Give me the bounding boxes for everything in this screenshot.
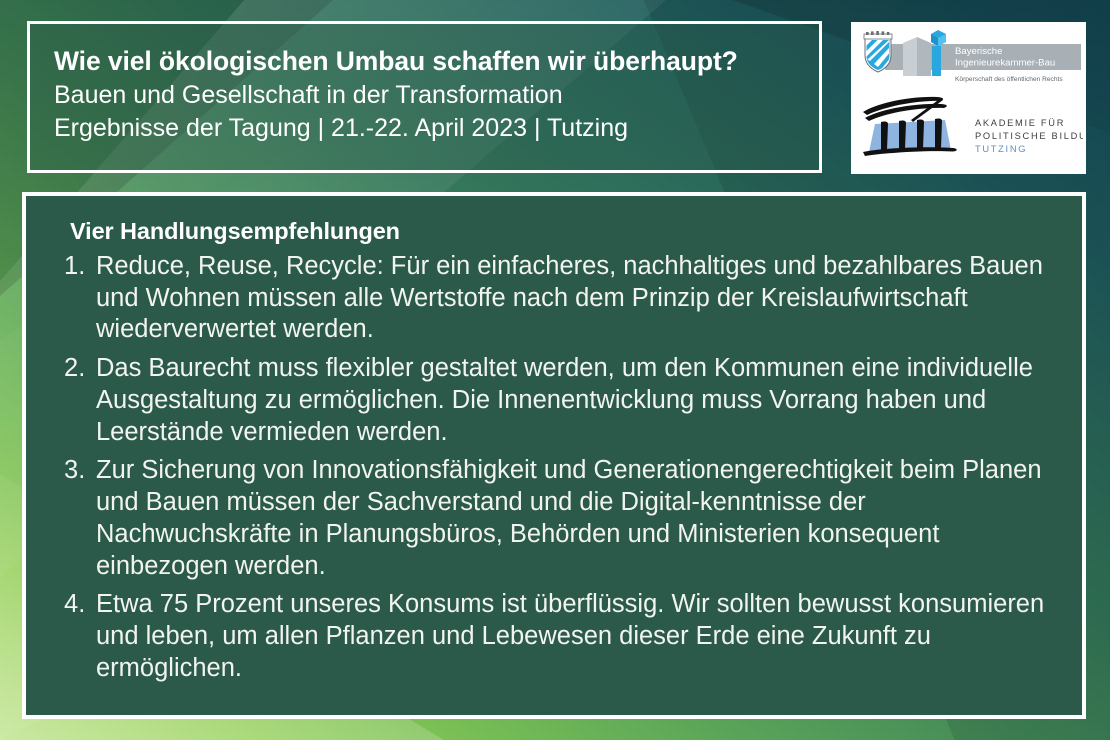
page-title: Wie viel ökologischen Umbau schaffen wir… [54,44,819,79]
svg-text:AKADEMIE FÜR: AKADEMIE FÜR [975,118,1065,128]
list-item: Reduce, Reuse, Recycle: Für ein einfache… [48,251,1062,346]
page-subtitle: Bauen und Gesellschaft in der Transforma… [54,79,819,112]
svg-text:TUTZING: TUTZING [975,144,1027,154]
recommendations-box: Vier Handlungsempfehlungen Reduce, Reuse… [22,192,1086,719]
page-event-line: Ergebnisse der Tagung | 21.-22. April 20… [54,112,819,145]
list-item: Zur Sicherung von Innovationsfähigkeit u… [48,455,1062,582]
recommendations-heading: Vier Handlungsempfehlungen [70,218,1062,245]
list-item: Das Baurecht muss flexibler gestaltet we… [48,353,1062,448]
svg-text:POLITISCHE BILDUNG: POLITISCHE BILDUNG [975,131,1083,141]
recommendations-list: Reduce, Reuse, Recycle: Für ein einfache… [48,251,1062,685]
bayerische-ingenieurekammer-bau-logo: Bayerische Ingenieurekammer-Bau Körpersc… [859,29,1081,91]
akademie-tutzing-logo: AKADEMIE FÜR POLITISCHE BILDUNG TUTZING [857,94,1083,168]
slide-canvas: Wie viel ökologischen Umbau schaffen wir… [0,0,1110,740]
logo-panel: Bayerische Ingenieurekammer-Bau Körpersc… [851,22,1086,174]
svg-text:Ingenieurekammer-Bau: Ingenieurekammer-Bau [955,58,1055,69]
svg-text:Körperschaft des öffentlichen: Körperschaft des öffentlichen Rechts [955,76,1063,83]
svg-text:Bayerische: Bayerische [955,46,1002,57]
list-item: Etwa 75 Prozent unseres Konsums ist über… [48,589,1062,684]
title-box: Wie viel ökologischen Umbau schaffen wir… [27,21,822,173]
